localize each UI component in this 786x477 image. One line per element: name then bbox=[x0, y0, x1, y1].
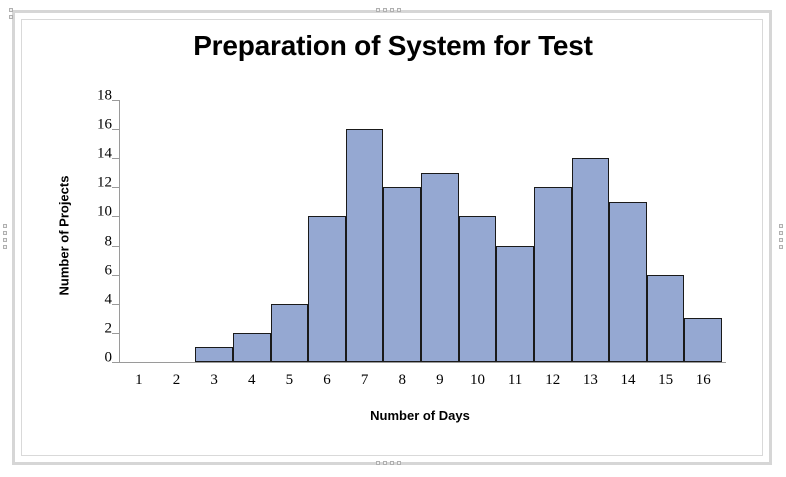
resize-handle-top-left[interactable] bbox=[9, 8, 13, 19]
grip-dot bbox=[779, 231, 783, 235]
grip-dot bbox=[383, 8, 387, 12]
x-axis-tick-label: 5 bbox=[286, 372, 294, 389]
grip-dot bbox=[3, 224, 7, 228]
x-axis-tick-label: 16 bbox=[696, 372, 711, 389]
y-axis-tick-mark bbox=[112, 216, 119, 217]
x-axis-tick-label: 12 bbox=[545, 372, 560, 389]
resize-handle-left[interactable] bbox=[3, 224, 7, 249]
y-axis-tick-mark bbox=[112, 129, 119, 130]
x-axis-tick-label: 2 bbox=[173, 372, 181, 389]
y-axis-tick-mark bbox=[112, 100, 119, 101]
grip-dot bbox=[390, 461, 394, 465]
bar[interactable] bbox=[421, 173, 459, 362]
x-axis-tick-label: 3 bbox=[210, 372, 218, 389]
bar[interactable] bbox=[346, 129, 384, 362]
y-axis-tick-label: 12 bbox=[78, 175, 112, 192]
y-axis-tick-label: 6 bbox=[78, 262, 112, 279]
resize-handle-top[interactable] bbox=[376, 8, 401, 12]
x-axis-tick-label: 9 bbox=[436, 372, 444, 389]
x-axis-tick-label: 10 bbox=[470, 372, 485, 389]
bar[interactable] bbox=[609, 202, 647, 362]
y-axis-tick-label: 2 bbox=[78, 320, 112, 337]
y-axis-tick-label: 8 bbox=[78, 233, 112, 250]
y-axis-tick-mark bbox=[112, 187, 119, 188]
y-axis-tick-mark bbox=[112, 158, 119, 159]
y-axis-tick-label: 18 bbox=[78, 88, 112, 105]
y-axis-tick-label: 4 bbox=[78, 291, 112, 308]
y-axis-tick-labels: 181614121086420 bbox=[78, 96, 112, 362]
bar[interactable] bbox=[383, 187, 421, 362]
y-axis-tick-mark bbox=[112, 246, 119, 247]
y-axis-tick-mark bbox=[112, 304, 119, 305]
y-axis-tick-mark bbox=[112, 275, 119, 276]
x-axis-tick-label: 7 bbox=[361, 372, 369, 389]
x-axis-tick-label: 6 bbox=[323, 372, 331, 389]
grip-dot bbox=[376, 461, 380, 465]
x-axis-tick-label: 14 bbox=[620, 372, 635, 389]
bar[interactable] bbox=[271, 304, 309, 362]
x-axis-tick-label: 1 bbox=[135, 372, 143, 389]
grip-dot bbox=[779, 245, 783, 249]
grip-dot bbox=[9, 8, 13, 12]
y-axis-tick-label: 16 bbox=[78, 117, 112, 134]
x-axis-tick-label: 15 bbox=[658, 372, 673, 389]
y-axis-title: Number of Projects bbox=[57, 136, 72, 336]
y-axis-tick-mark bbox=[112, 362, 119, 363]
bar[interactable] bbox=[496, 246, 534, 362]
grip-dot bbox=[9, 15, 13, 19]
grip-dot bbox=[397, 461, 401, 465]
grip-dot bbox=[390, 8, 394, 12]
x-axis-tick-label: 13 bbox=[583, 372, 598, 389]
bar[interactable] bbox=[233, 333, 271, 362]
grip-dot bbox=[383, 461, 387, 465]
x-axis-tick-label: 4 bbox=[248, 372, 256, 389]
grip-dot bbox=[3, 238, 7, 242]
bar[interactable] bbox=[459, 216, 497, 362]
resize-handle-bottom[interactable] bbox=[376, 461, 401, 465]
bar[interactable] bbox=[534, 187, 572, 362]
x-axis-tick-label: 8 bbox=[398, 372, 406, 389]
bar-series bbox=[120, 100, 722, 362]
y-axis-tick-label: 14 bbox=[78, 146, 112, 163]
y-axis-tick-mark bbox=[112, 333, 119, 334]
x-axis-title: Number of Days bbox=[120, 408, 720, 423]
bar[interactable] bbox=[572, 158, 610, 362]
y-axis-tick-label: 0 bbox=[78, 350, 112, 367]
grip-dot bbox=[376, 8, 380, 12]
bar[interactable] bbox=[308, 216, 346, 362]
grip-dot bbox=[3, 231, 7, 235]
bar[interactable] bbox=[647, 275, 685, 362]
grip-dot bbox=[779, 224, 783, 228]
grip-dot bbox=[779, 238, 783, 242]
grip-dot bbox=[397, 8, 401, 12]
bar[interactable] bbox=[684, 318, 722, 362]
grip-dot bbox=[3, 245, 7, 249]
bar[interactable] bbox=[195, 347, 233, 362]
x-axis-line bbox=[112, 362, 726, 363]
plot-area: Number of Projects 181614121086420 12345… bbox=[0, 0, 786, 477]
y-axis-tick-label: 10 bbox=[78, 204, 112, 221]
histogram-chart: Preparation of System for Test Number of… bbox=[0, 0, 786, 477]
resize-handle-right[interactable] bbox=[779, 224, 783, 249]
x-axis-tick-label: 11 bbox=[508, 372, 522, 389]
